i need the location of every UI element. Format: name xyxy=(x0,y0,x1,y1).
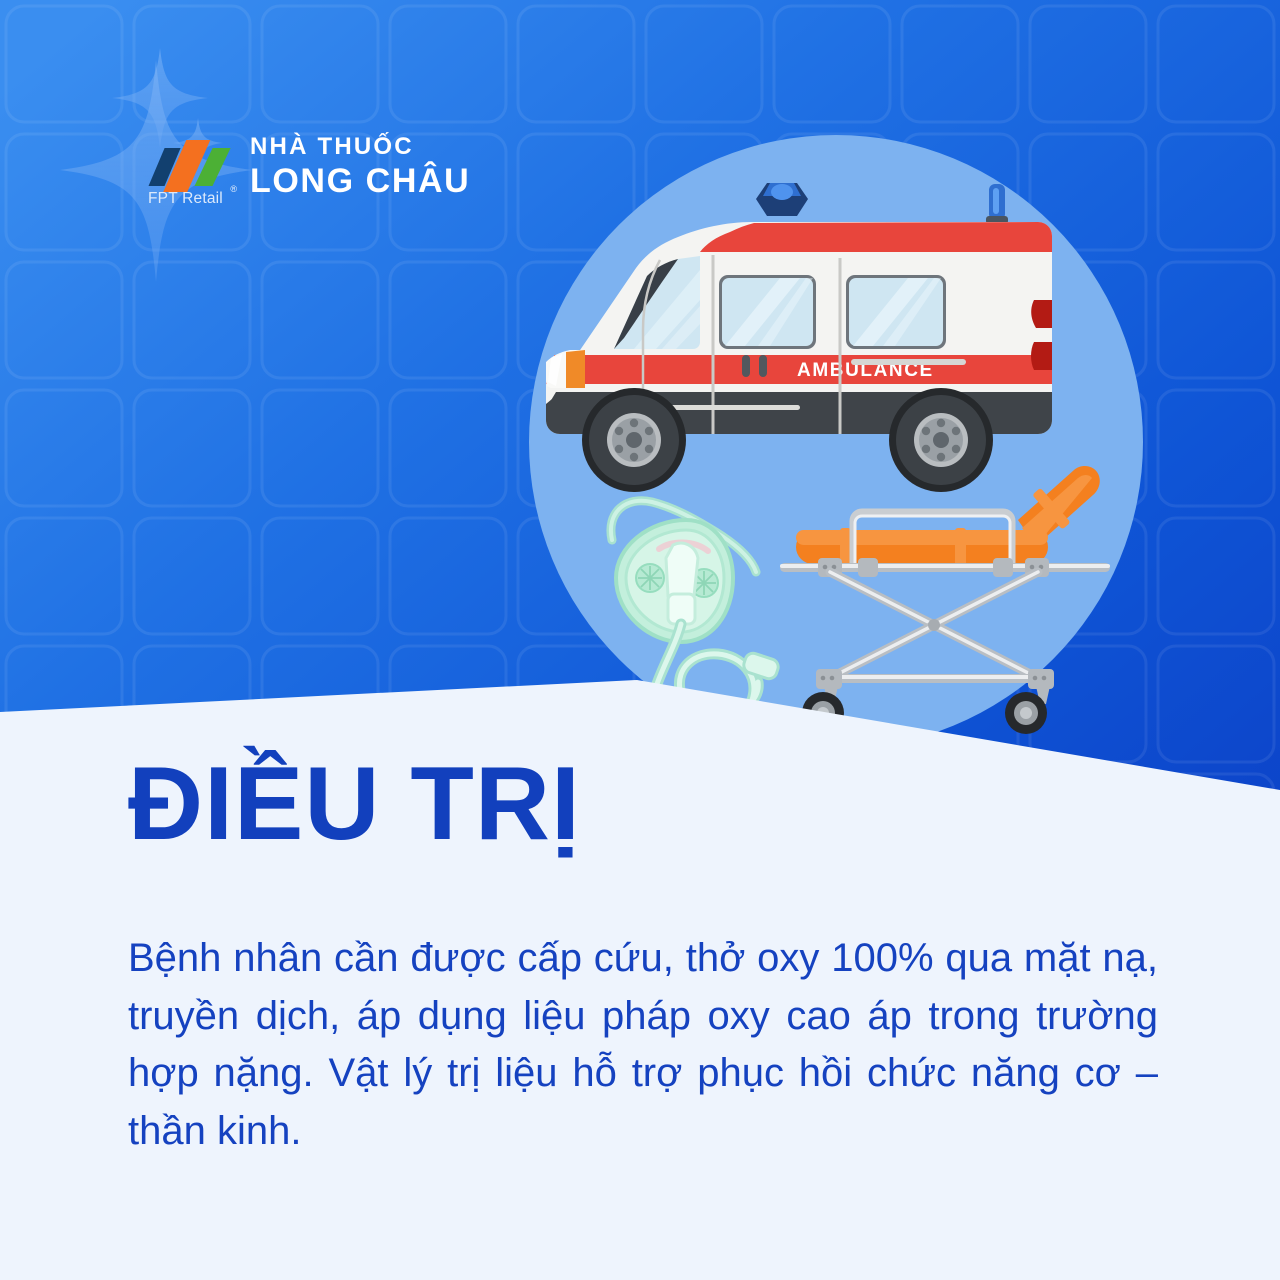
ambulance-door-handle-right xyxy=(759,355,767,377)
mask-cone xyxy=(666,543,698,596)
mask-vent-left xyxy=(636,564,664,592)
fpt-retail-label: FPT Retail xyxy=(148,190,223,208)
brand-line-nha-thuoc: NHÀ THUỐC xyxy=(250,134,470,159)
fpt-retail-logo-mark: ® FPT Retail xyxy=(148,132,234,206)
body-text: Bệnh nhân cần được cấp cứu, thở oxy 100%… xyxy=(128,930,1158,1160)
ambulance-door-handle-left xyxy=(742,355,750,377)
registered-trademark-symbol: ® xyxy=(230,185,237,194)
siren-front-icon xyxy=(756,183,808,216)
brand-logo: ® FPT Retail NHÀ THUỐC LONG CHÂU xyxy=(148,132,470,206)
brand-line-long-chau: LONG CHÂU xyxy=(250,162,470,201)
body-paragraph: Bệnh nhân cần được cấp cứu, thở oxy 100%… xyxy=(128,930,1158,1160)
ambulance-window-middle xyxy=(719,275,816,349)
siren-rear-icon xyxy=(986,184,1008,224)
ambulance-roof-stripe xyxy=(700,222,1052,252)
ambulance-window-rear xyxy=(846,275,946,349)
page-title: ĐIỀU TRỊ xyxy=(128,752,581,856)
ambulance-wheel-rear xyxy=(889,388,993,492)
brand-wordmark: NHÀ THUỐC LONG CHÂU xyxy=(250,132,470,201)
infographic-canvas: AMBULANCE xyxy=(0,0,1280,1280)
